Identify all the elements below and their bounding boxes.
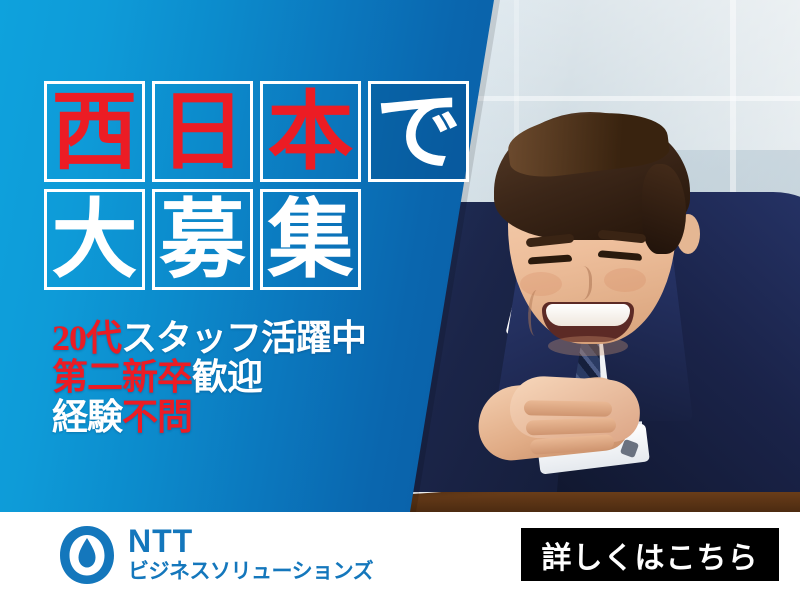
subcopy-segment: スタッフ活躍中 (121, 318, 366, 358)
ntt-logo[interactable]: NTT ビジネスソリューションズ (58, 524, 373, 586)
headline-cell-empty (368, 189, 469, 290)
subcopy-segment: 第二新卒 (52, 357, 192, 397)
chin (548, 336, 628, 356)
cta-label: 詳しくはこちら (542, 533, 759, 577)
details-cta-button[interactable]: 詳しくはこちら (521, 528, 779, 581)
ntt-subtitle: ビジネスソリューションズ (128, 560, 373, 584)
headline-row-2: 大 募 集 (44, 189, 469, 290)
subcopy-line-2: 第二新卒歓迎 (52, 359, 366, 396)
subcopy-segment: 20代 (52, 318, 121, 358)
ntt-logo-text: NTT ビジネスソリューションズ (128, 525, 373, 584)
teeth (546, 304, 630, 326)
headline-cell: 西 (44, 81, 145, 182)
headline-grid: 西 日 本 で 大 募 集 (44, 81, 469, 290)
finger (524, 400, 612, 417)
headline-cell: 集 (260, 189, 361, 290)
ntt-wordmark: NTT (128, 525, 373, 557)
cheek-right (604, 268, 646, 292)
subcopy-line-1: 20代スタッフ活躍中 (52, 320, 366, 357)
subcopy-block: 20代スタッフ活躍中 第二新卒歓迎 経験不問 (52, 320, 366, 436)
headline-cell: 本 (260, 81, 361, 182)
finger (526, 417, 616, 435)
glass-horizontal-line (430, 96, 800, 101)
headline-cell: 日 (152, 81, 253, 182)
recruitment-banner: 西 日 本 で 大 募 集 20代スタッフ活躍中 第二新卒歓迎 経験不問 (0, 0, 800, 600)
subcopy-segment: 歓迎 (192, 357, 262, 397)
subject-head (486, 104, 692, 354)
headline-cell: 募 (152, 189, 253, 290)
headline-cell: 大 (44, 189, 145, 290)
headline-row-1: 西 日 本 で (44, 81, 469, 182)
ntt-logo-mark (58, 524, 116, 586)
subcopy-line-3: 経験不問 (52, 399, 366, 436)
nose (570, 266, 592, 300)
headline-cell: で (368, 81, 469, 182)
subcopy-segment: 不問 (122, 397, 192, 437)
subcopy-segment: 経験 (52, 397, 122, 437)
